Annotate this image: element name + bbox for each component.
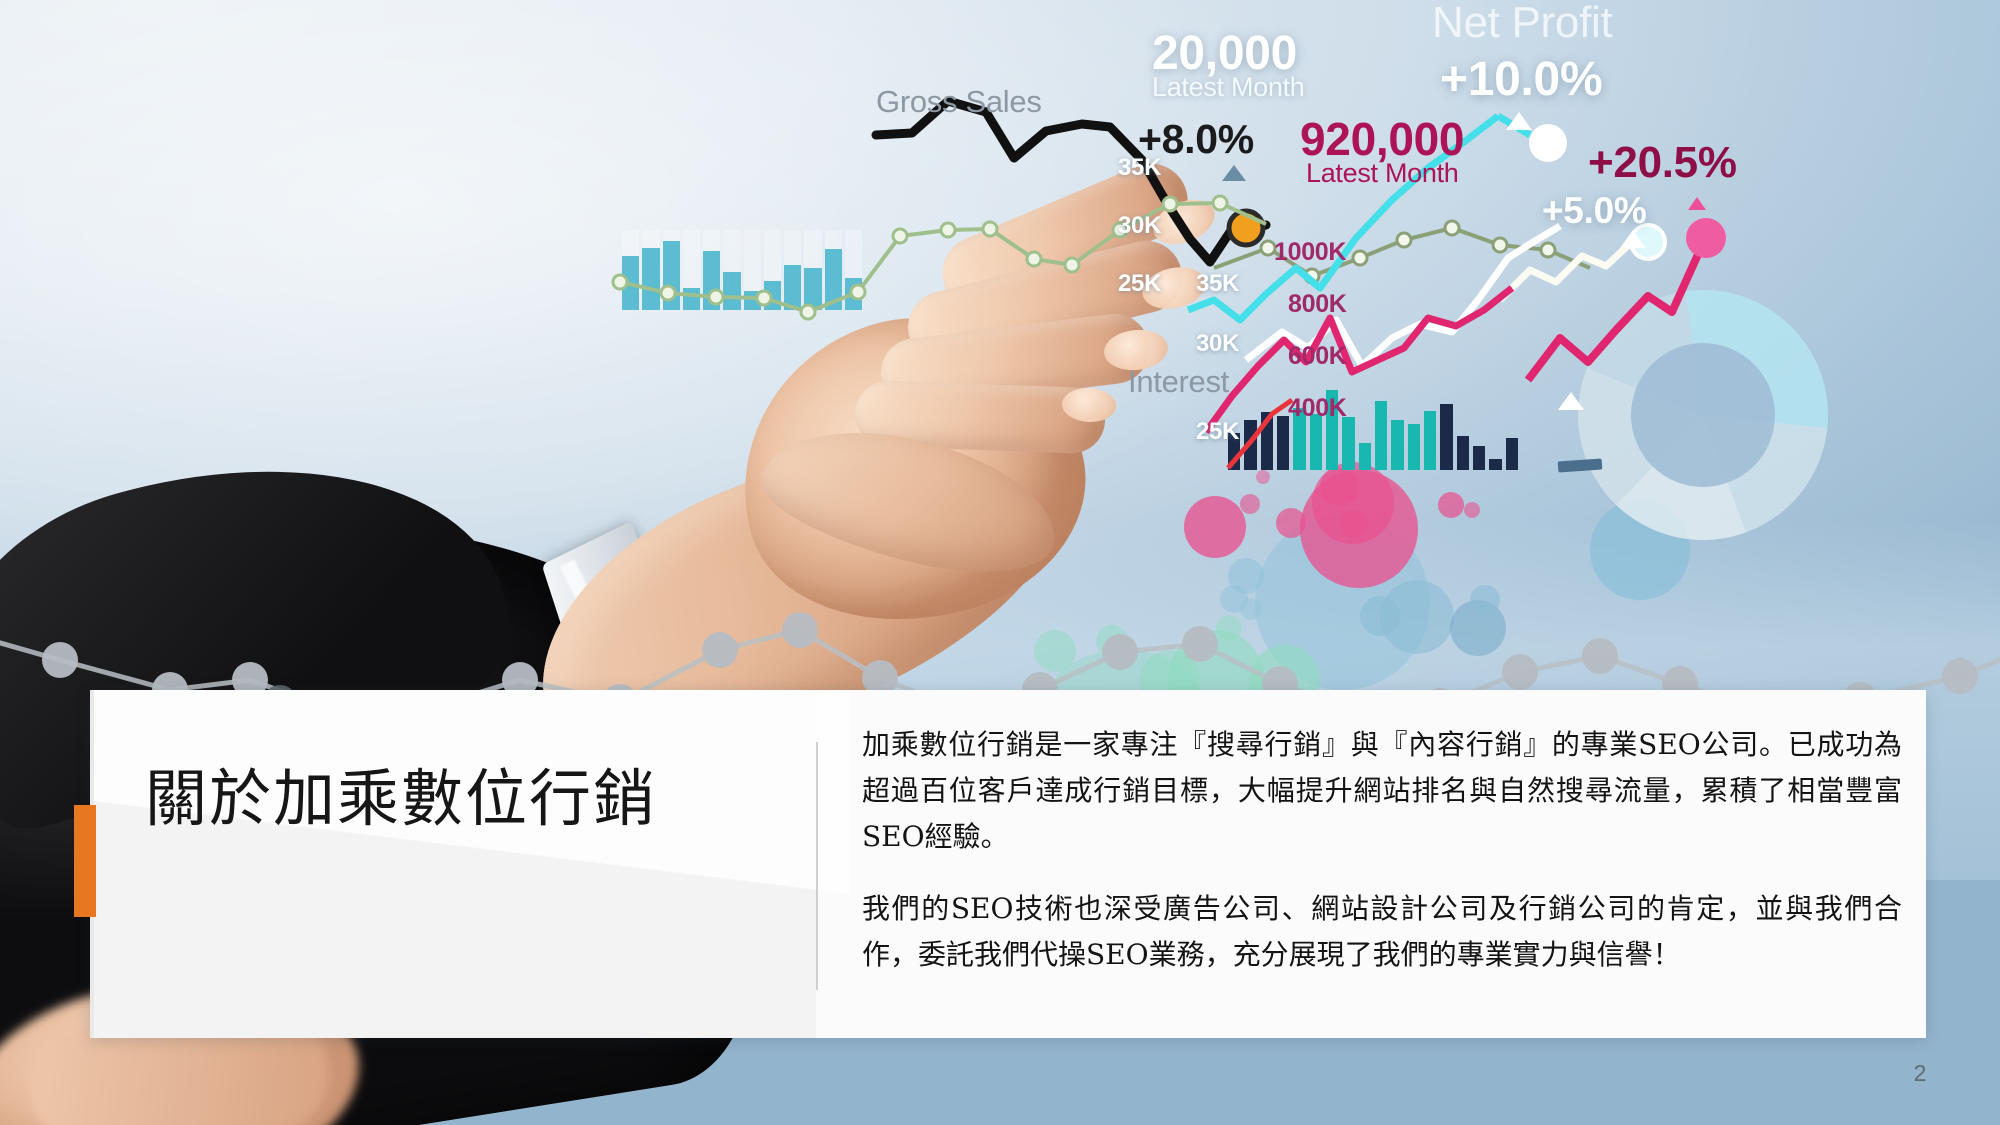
axis-tick-mid-30k: 30K: [1196, 330, 1239, 358]
axis-tick-right-800k: 800K: [1288, 290, 1347, 319]
growth-delta: +20.5%: [1588, 138, 1737, 188]
axis-tick-right-600k: 600K: [1288, 342, 1347, 371]
secondary-delta: +5.0%: [1542, 190, 1646, 232]
axis-tick-left-25k: 25K: [1118, 270, 1161, 298]
triangle-up-icon: [1222, 165, 1246, 181]
magenta-line-end-marker: [1686, 218, 1726, 258]
axis-tick-mid-35k: 35K: [1196, 270, 1239, 298]
triangle-up-icon: [1688, 197, 1706, 210]
triangle-up-icon: [1506, 112, 1532, 130]
net-profit-label: Net Profit: [1432, 0, 1612, 48]
axis-tick-left-35k: 35K: [1118, 154, 1161, 182]
magenta-line-right: [1528, 250, 1700, 380]
net-profit-end-marker: [1529, 124, 1567, 162]
interest-label: Interest: [1128, 364, 1229, 400]
triangle-up-icon: [1620, 230, 1646, 248]
page-title: 關於加乘數位行銷: [145, 762, 765, 836]
interest-caption: Latest Month: [1306, 158, 1459, 189]
gross-sales-caption: Latest Month: [1152, 72, 1305, 103]
slide: Gross Sales Interest Net Profit 20,000 L…: [0, 0, 2000, 1125]
triangle-up-icon: [1558, 392, 1584, 410]
gross-sales-label: Gross Sales: [876, 84, 1042, 120]
axis-tick-mid-25k: 25K: [1196, 418, 1239, 446]
axis-tick-right-400k: 400K: [1288, 394, 1347, 423]
body-paragraph-2: 我們的SEO技術也深受廣告公司、網站設計公司及行銷公司的肯定，並與我們合作，委託…: [862, 886, 1902, 978]
vertical-divider: [816, 742, 818, 990]
body-text: 加乘數位行銷是一家專注『搜尋行銷』與『內容行銷』的專業SEO公司。已成功為超過百…: [862, 722, 1902, 978]
content-card-tilted-sheet: [90, 690, 850, 1038]
accent-bar: [74, 805, 96, 917]
body-paragraph-1: 加乘數位行銷是一家專注『搜尋行銷』與『內容行銷』的專業SEO公司。已成功為超過百…: [862, 722, 1902, 860]
page-number: 2: [1900, 1060, 1940, 1087]
net-profit-delta: +10.0%: [1440, 52, 1602, 107]
axis-tick-right-1000k: 1000K: [1274, 238, 1346, 267]
axis-tick-left-30k: 30K: [1118, 212, 1161, 240]
